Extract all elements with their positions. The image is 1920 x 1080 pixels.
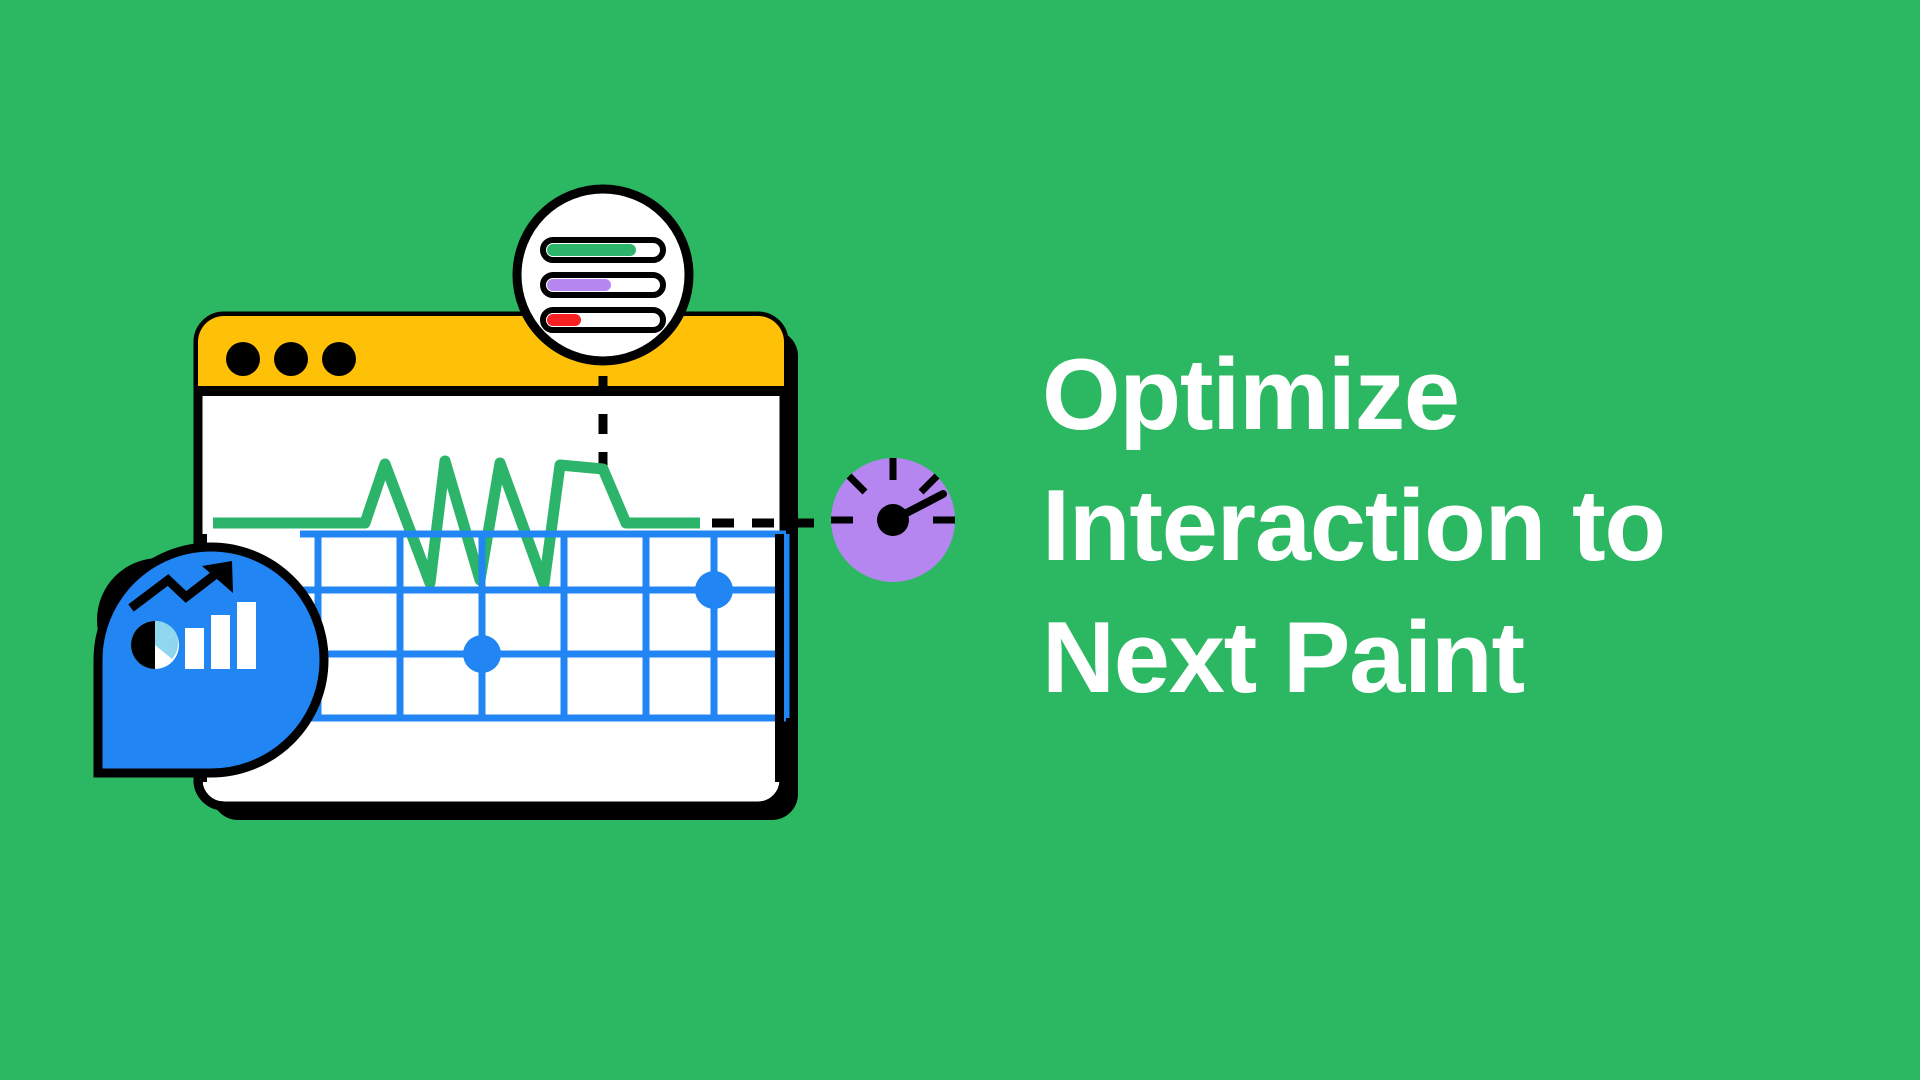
traffic-light-close-icon[interactable]	[226, 342, 260, 376]
grid-point-1[interactable]	[463, 635, 501, 673]
progress-bar-red	[543, 310, 663, 330]
speed-gauge[interactable]	[831, 458, 955, 582]
page-title: Optimize Interaction to Next Paint	[1042, 330, 1862, 724]
grid-point-2[interactable]	[695, 571, 733, 609]
titlebar-divider	[198, 386, 784, 396]
traffic-light-minimize-icon[interactable]	[274, 342, 308, 376]
illustration-canvas: Optimize Interaction to Next Paint	[0, 0, 1920, 1080]
pie-chart-icon	[131, 621, 179, 669]
analytics-badge[interactable]	[98, 547, 324, 773]
progress-bar-green	[543, 240, 663, 260]
gauge-hub	[877, 504, 909, 536]
metrics-badge[interactable]	[517, 189, 689, 361]
browser-window-right-edge	[775, 534, 784, 782]
progress-bar-purple	[543, 275, 663, 295]
traffic-light-maximize-icon[interactable]	[322, 342, 356, 376]
